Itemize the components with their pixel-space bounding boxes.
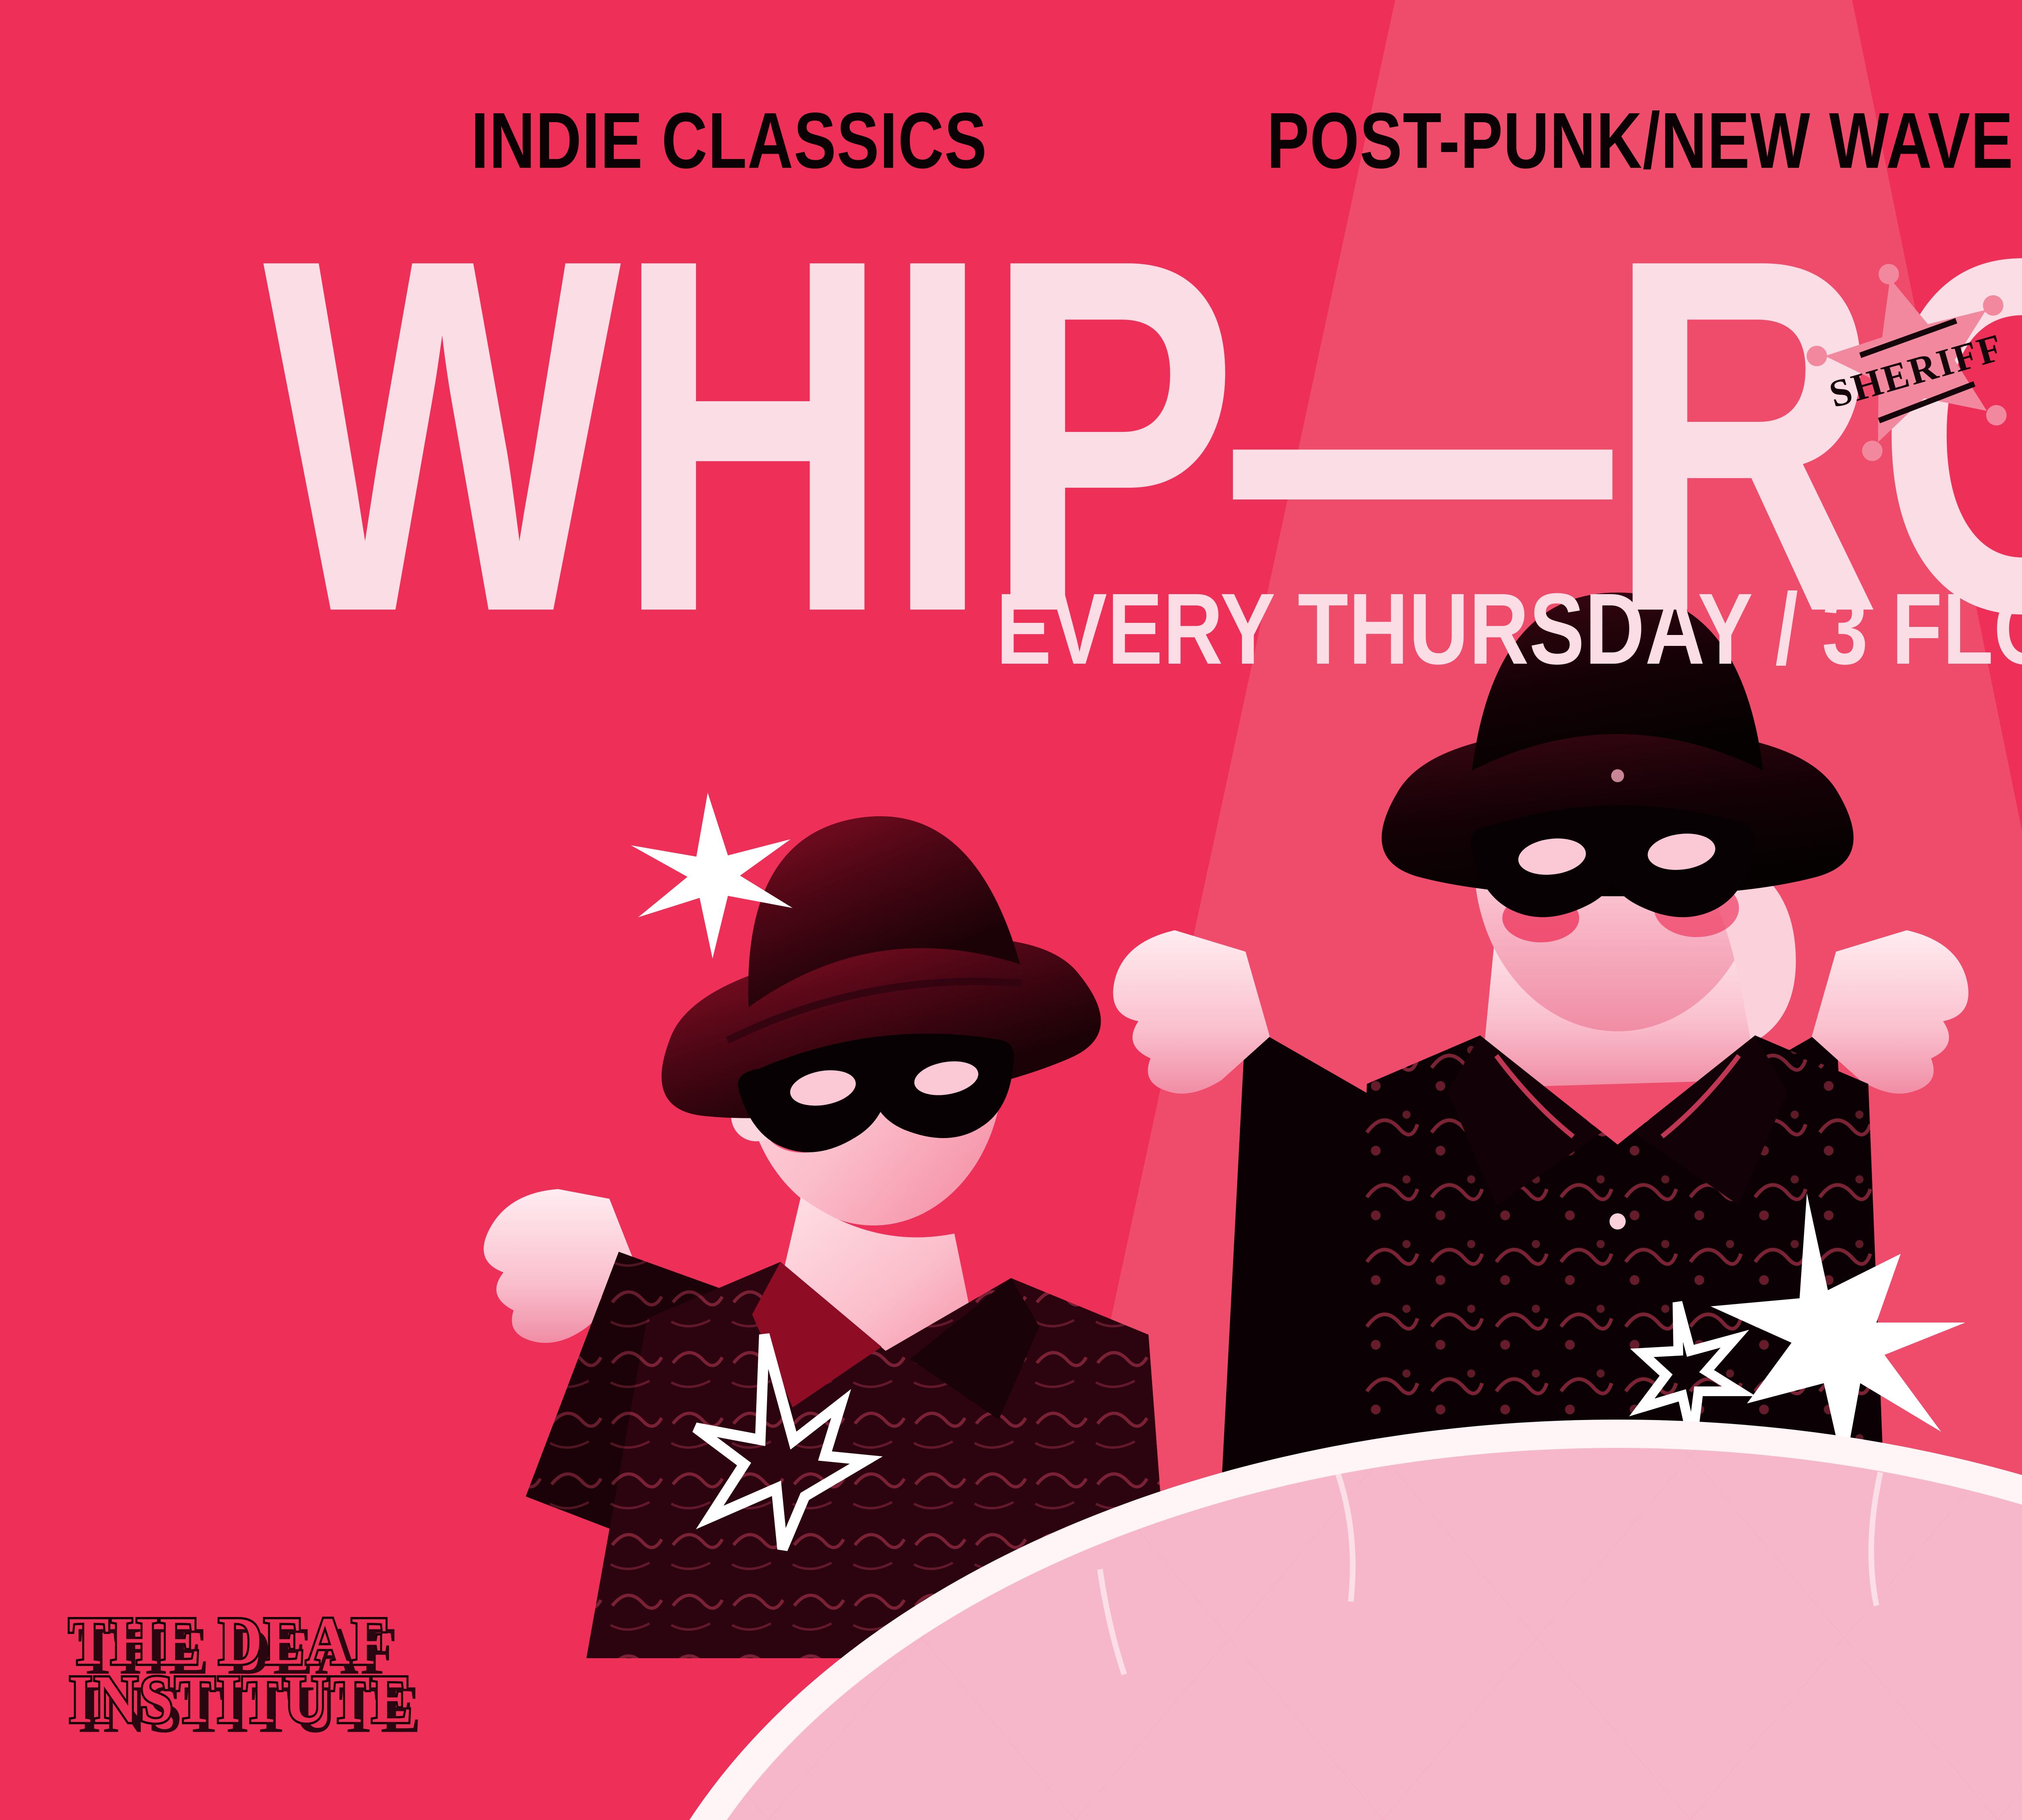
title-block: WHIP—ROUND: [0, 214, 2022, 578]
event-subtitle: EVERY THURSDAY / 3 FLOORS: [996, 578, 2022, 679]
poster-canvas: INDIE CLASSICS POST-PUNK/NEW WAVE EMO AN…: [0, 0, 2022, 1820]
genre-tagline: INDIE CLASSICS POST-PUNK/NEW WAVE EMO AN…: [0, 101, 2022, 180]
venue-logo-line-2: INSTITUTE: [69, 1667, 414, 1732]
tagline-item-0: INDIE CLASSICS: [471, 101, 988, 180]
venue-logo[interactable]: THE DEAF INSTITUTE: [69, 1608, 414, 1725]
tagline-item-1: POST-PUNK/NEW WAVE: [1267, 101, 2014, 180]
sheriff-badge-icon: SHERIFF: [1804, 259, 2022, 485]
subtitle-block: EVERY THURSDAY / 3 FLOORS: [0, 578, 2022, 679]
figure-left-cowboy-statue: [484, 796, 1173, 1658]
